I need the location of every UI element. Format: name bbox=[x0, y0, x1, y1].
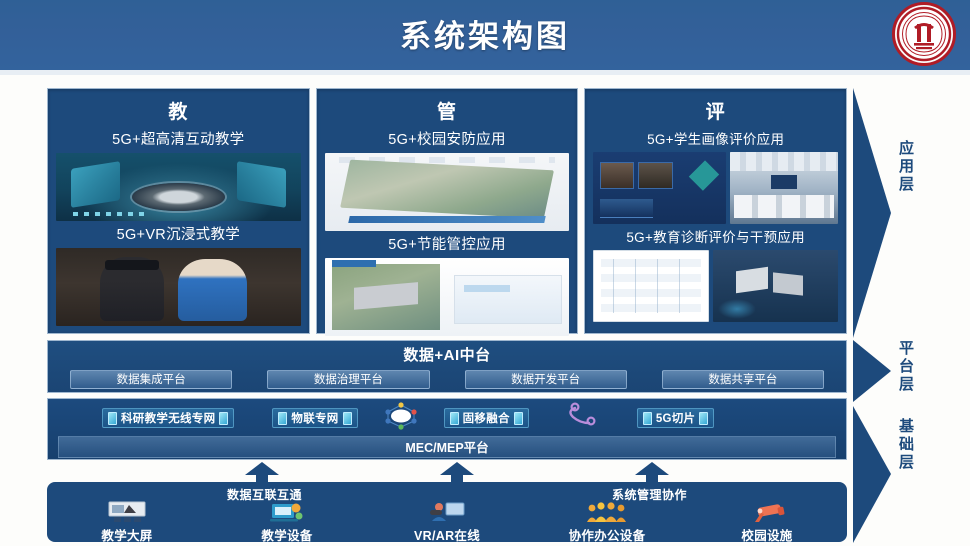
layer-label-application: 应用层 bbox=[895, 140, 916, 194]
chip-label: 物联专网 bbox=[291, 410, 338, 426]
app-item-label: 5G+校园安防应用 bbox=[325, 128, 570, 149]
cube-icon bbox=[450, 412, 459, 425]
university-logo-icon bbox=[896, 6, 952, 62]
vr-ar-icon bbox=[367, 500, 527, 524]
platform-layer: 数据+AI中台 数据集成平台 数据治理平台 数据开发平台 数据共享平台 bbox=[47, 340, 847, 393]
app-item-label: 5G+学生画像评价应用 bbox=[593, 128, 838, 148]
chip-research-wireless-network[interactable]: 科研教学无线专网 bbox=[102, 408, 234, 428]
route-nodes-icon bbox=[563, 402, 603, 435]
chip-iot-network[interactable]: 物联专网 bbox=[272, 408, 357, 428]
layer-label-infrastructure: 基础层 bbox=[895, 418, 916, 472]
device-label: 教学大屏 bbox=[47, 525, 207, 544]
cube-icon bbox=[219, 412, 228, 425]
chip-label: 5G切片 bbox=[656, 410, 696, 426]
infrastructure-layer: 科研教学无线专网 物联专网 bbox=[47, 398, 847, 460]
device-label: 教学设备 bbox=[207, 525, 367, 544]
chip-label: 科研教学无线专网 bbox=[121, 410, 215, 426]
chip-fixed-mobile-convergence[interactable]: 固移融合 bbox=[444, 408, 529, 428]
vr-headset-photo bbox=[56, 248, 301, 326]
device-label: VR/AR在线 bbox=[367, 525, 527, 544]
platform-button-row: 数据集成平台 数据治理平台 数据开发平台 数据共享平台 bbox=[48, 370, 846, 389]
chip-5g-slicing[interactable]: 5G切片 bbox=[637, 408, 715, 428]
app-item-label: 5G+节能管控应用 bbox=[325, 233, 570, 254]
device-classroom-screen[interactable]: 教学大屏 bbox=[47, 500, 207, 544]
classroom-screen-icon bbox=[47, 500, 207, 524]
app-item-label: 5G+VR沉浸式教学 bbox=[56, 223, 301, 244]
device-row: 教学大屏 教学设备 bbox=[47, 500, 847, 544]
page-title: 系统架构图 bbox=[0, 11, 970, 56]
student-portrait-dashboard bbox=[593, 152, 725, 224]
app-item-label: 5G+教育诊断评价与干预应用 bbox=[593, 226, 838, 246]
arrow-platform-layer bbox=[851, 340, 895, 402]
security-camera-icon bbox=[687, 500, 847, 524]
platform-button-sharing[interactable]: 数据共享平台 bbox=[662, 370, 824, 389]
app-panel-management[interactable]: 管 5G+校园安防应用 5G+节能管控应用 bbox=[316, 88, 579, 334]
platform-button-integration[interactable]: 数据集成平台 bbox=[70, 370, 232, 389]
device-collaboration-office[interactable]: 协作办公设备 bbox=[527, 500, 687, 544]
teaching-device-icon bbox=[207, 500, 367, 524]
cloud-network-icon bbox=[384, 402, 418, 435]
campus-aerial-photo bbox=[713, 250, 838, 322]
platform-title: 数据+AI中台 bbox=[48, 344, 846, 365]
app-panel-teaching[interactable]: 教 5G+超高清互动教学 5G+VR沉浸式教学 bbox=[47, 88, 310, 334]
device-teaching-equipment[interactable]: 教学设备 bbox=[207, 500, 367, 544]
application-layer: 教 5G+超高清互动教学 5G+VR沉浸式教学 管 5G+校园安防应用 5G+节… bbox=[47, 88, 847, 334]
platform-button-development[interactable]: 数据开发平台 bbox=[465, 370, 627, 389]
device-campus-facility[interactable]: 校园设施 bbox=[687, 500, 847, 544]
chip-label: 固移融合 bbox=[463, 410, 510, 426]
device-label: 协作办公设备 bbox=[527, 525, 687, 544]
cube-icon bbox=[699, 412, 708, 425]
architecture-diagram-page: 系统架构图 教 5G+超高清互动教学 5G bbox=[0, 0, 970, 546]
infrastructure-chip-row: 科研教学无线专网 物联专网 bbox=[58, 404, 836, 432]
cube-icon bbox=[514, 412, 523, 425]
collaboration-people-icon bbox=[527, 500, 687, 524]
smart-classroom-photo bbox=[730, 152, 838, 224]
device-label: 校园设施 bbox=[687, 525, 847, 544]
diagnosis-table bbox=[593, 250, 709, 322]
platform-button-governance[interactable]: 数据治理平台 bbox=[267, 370, 429, 389]
arrow-application-layer bbox=[851, 88, 895, 338]
up-arrow-right bbox=[635, 462, 669, 482]
device-vr-ar-online[interactable]: VR/AR在线 bbox=[367, 500, 527, 544]
header-divider bbox=[0, 70, 970, 75]
device-layer: 数据互联互通 系统管理协作 教学大屏 bbox=[47, 482, 847, 542]
panel-title: 教 bbox=[56, 97, 301, 124]
campus-3d-map bbox=[325, 153, 570, 231]
app-item-label: 5G+超高清互动教学 bbox=[56, 128, 301, 149]
cube-icon bbox=[278, 412, 287, 425]
cube-icon bbox=[108, 412, 117, 425]
energy-dashboard bbox=[325, 258, 570, 336]
up-arrow-middle bbox=[440, 462, 474, 482]
panel-title: 评 bbox=[593, 97, 838, 124]
app-panel-evaluation[interactable]: 评 5G+学生画像评价应用 5G+教育诊断评价与干预应用 bbox=[584, 88, 847, 334]
layer-label-platform: 平台层 bbox=[895, 340, 916, 394]
cube-icon bbox=[343, 412, 352, 425]
vr-classroom-photo bbox=[56, 153, 301, 221]
mec-mep-platform-bar[interactable]: MEC/MEP平台 bbox=[58, 436, 836, 458]
university-logo bbox=[892, 2, 956, 66]
header-bar: 系统架构图 bbox=[0, 0, 970, 70]
layer-indicators: 应用层 平台层 基础层 bbox=[851, 88, 911, 543]
up-arrow-left bbox=[245, 462, 279, 482]
cube-icon bbox=[643, 412, 652, 425]
arrow-infrastructure-layer bbox=[851, 406, 895, 543]
panel-title: 管 bbox=[325, 97, 570, 124]
